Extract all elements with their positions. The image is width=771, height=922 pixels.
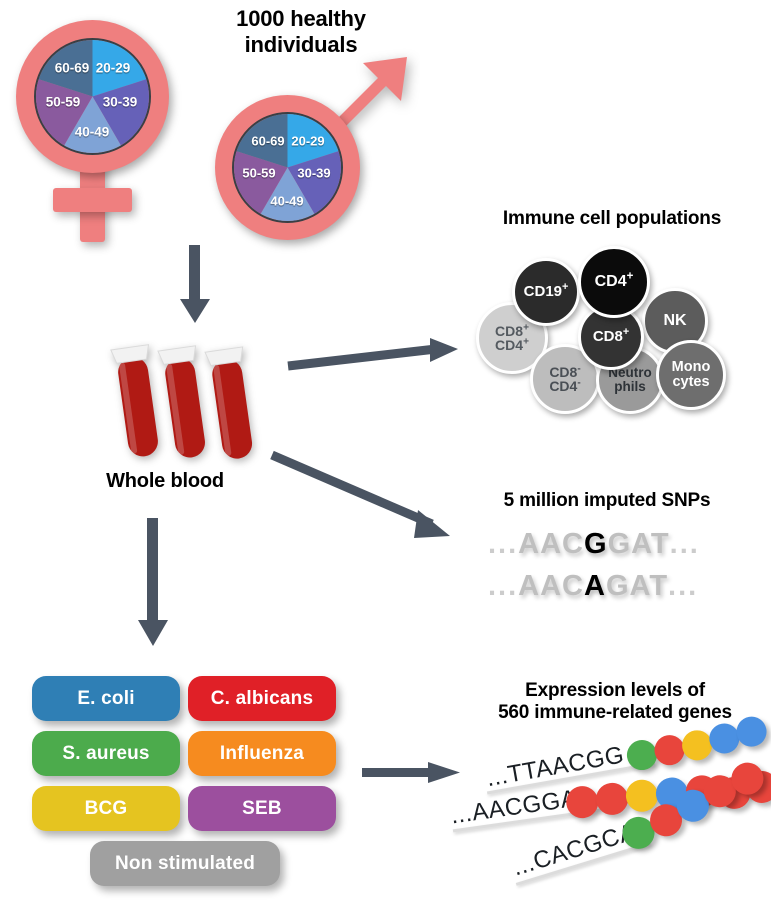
stimulus-label: BCG xyxy=(85,798,128,820)
pie-label-60-69: 60-69 xyxy=(55,61,90,76)
stimulus-c-albicans[interactable]: C. albicans xyxy=(188,676,336,721)
stimulus-label: S. aureus xyxy=(62,743,149,765)
cell-label: CD4+ xyxy=(595,274,634,290)
cohort-heading-line1: 1000 healthy xyxy=(186,6,416,32)
pie-label-60-69: 60-69 xyxy=(251,134,284,149)
snp-right-bases: GAT xyxy=(608,528,670,560)
stimulus-label: C. albicans xyxy=(211,688,314,710)
expression-dna-strands: ...TTAACGG ...AACGGAT ...CACGCAA xyxy=(450,735,771,915)
female-symbol-crossbar xyxy=(53,188,132,212)
pie-label-20-29: 20-29 xyxy=(291,134,324,149)
snp-variant-base: A xyxy=(584,570,606,602)
cell-cd19pos: CD19+ xyxy=(512,258,580,326)
whole-blood-sample xyxy=(95,340,265,470)
stimulus-label: SEB xyxy=(242,798,282,820)
dna-bead-red xyxy=(652,733,687,768)
expression-heading-line1: Expression levels of xyxy=(463,680,767,702)
pie-label-40-49: 40-49 xyxy=(270,194,303,209)
snp-right-bases: GAT xyxy=(606,570,668,602)
pie-label-50-59: 50-59 xyxy=(242,166,275,181)
arrow-blood-to-snps xyxy=(272,452,472,552)
cell-label: Monocytes xyxy=(672,360,711,390)
whole-blood-label: Whole blood xyxy=(75,470,255,494)
arrow-cohort-to-blood xyxy=(176,245,216,325)
snp-variant-base: G xyxy=(584,528,608,560)
pie-label-30-39: 30-39 xyxy=(297,166,330,181)
female-age-pie: 20-29 30-39 40-49 50-59 60-69 xyxy=(34,38,151,155)
snp-left-bases: AAC xyxy=(518,528,584,560)
stimulus-label: E. coli xyxy=(77,688,134,710)
pie-label-20-29: 20-29 xyxy=(96,61,131,76)
snps-heading: 5 million imputed SNPs xyxy=(462,490,752,512)
male-age-pie: 20-29 30-39 40-49 50-59 60-69 xyxy=(232,112,343,223)
snp-suffix-dots: ... xyxy=(668,570,698,602)
cell-label: CD19+ xyxy=(524,284,569,299)
stimulus-seb[interactable]: SEB xyxy=(188,786,336,831)
immune-cells-cluster: CD8+CD4+ CD19+ CD4+ NK CD8+ Monocytes CD… xyxy=(460,240,760,420)
snp-allele-row-1: ...AACGGAT... xyxy=(488,528,700,561)
snp-prefix-dots: ... xyxy=(488,528,518,560)
snp-sequences: ...AACGGAT... ...AACAGAT... xyxy=(480,528,760,623)
pie-label-40-49: 40-49 xyxy=(75,125,110,140)
stimulus-label: Non stimulated xyxy=(115,853,255,875)
arrow-blood-to-cells xyxy=(288,338,463,378)
pie-label-50-59: 50-59 xyxy=(46,95,81,110)
cell-label: CD8-CD4- xyxy=(549,365,580,394)
expression-heading-line2: 560 immune-related genes xyxy=(463,702,767,724)
stimuli-grid: E. coli C. albicans S. aureus Influenza … xyxy=(32,676,332,896)
cell-monocytes: Monocytes xyxy=(656,340,726,410)
cell-label: Neutrophils xyxy=(608,366,652,394)
stimulus-e-coli[interactable]: E. coli xyxy=(32,676,180,721)
female-gender-symbol: 20-29 30-39 40-49 50-59 60-69 xyxy=(8,12,188,242)
stimulus-influenza[interactable]: Influenza xyxy=(188,731,336,776)
stimulus-s-aureus[interactable]: S. aureus xyxy=(32,731,180,776)
stimulus-bcg[interactable]: BCG xyxy=(32,786,180,831)
cell-label: NK xyxy=(663,313,686,329)
snp-left-bases: AAC xyxy=(518,570,584,602)
pie-label-30-39: 30-39 xyxy=(103,95,138,110)
stimulus-label: Influenza xyxy=(220,743,304,765)
cell-label: CD8+CD4+ xyxy=(495,324,529,353)
snp-prefix-dots: ... xyxy=(488,570,518,602)
cell-cd4pos: CD4+ xyxy=(578,246,650,318)
figure-canvas: 1000 healthy individuals 20-29 30-39 40-… xyxy=(0,0,771,922)
male-gender-symbol: 20-29 30-39 40-49 50-59 60-69 xyxy=(200,40,420,245)
snp-suffix-dots: ... xyxy=(670,528,700,560)
arrow-blood-to-stimuli xyxy=(134,518,174,648)
stimulus-non-stimulated[interactable]: Non stimulated xyxy=(90,841,280,886)
immune-cells-heading: Immune cell populations xyxy=(462,208,762,230)
expression-heading: Expression levels of 560 immune-related … xyxy=(463,680,767,725)
cell-label: CD8+ xyxy=(593,329,629,344)
snp-allele-row-2: ...AACAGAT... xyxy=(488,570,698,603)
